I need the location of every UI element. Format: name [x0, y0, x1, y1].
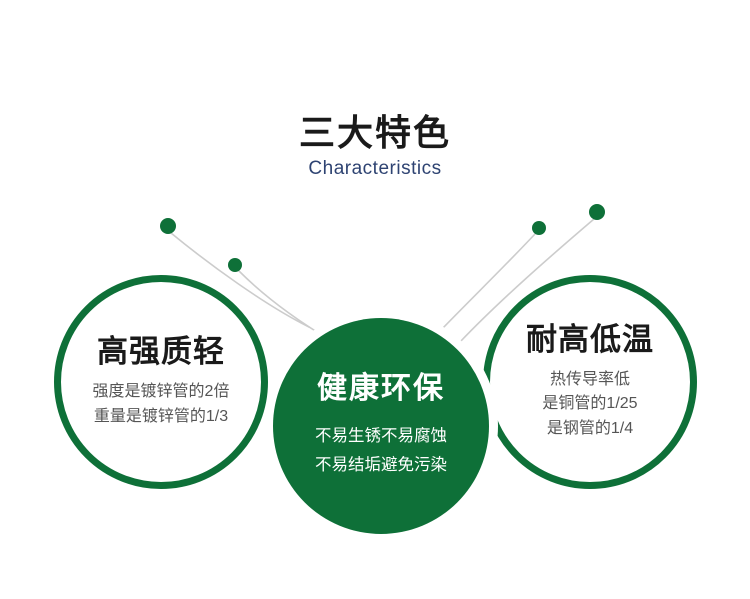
feature-circle-healthy-eco[interactable]: 健康环保 不易生锈不易腐蚀 不易结垢避免污染	[273, 318, 489, 534]
dot-left-outer	[160, 218, 176, 234]
feature-line: 不易结垢避免污染	[315, 451, 447, 480]
characteristics-infographic: 三大特色 Characteristics 高强质轻 强度是镀锌管的2倍 重量是镀…	[0, 0, 750, 599]
feature-line: 重量是镀锌管的1/3	[93, 405, 230, 430]
page-header: 三大特色 Characteristics	[0, 113, 750, 179]
feature-line: 热传导率低	[542, 368, 637, 393]
feature-line: 是钢管的1/4	[542, 417, 637, 442]
decorative-dots	[160, 204, 605, 272]
feature-circle-strength-light[interactable]: 高强质轻 强度是镀锌管的2倍 重量是镀锌管的1/3	[54, 275, 268, 489]
feature-line: 强度是镀锌管的2倍	[93, 380, 230, 405]
feature-line: 不易生锈不易腐蚀	[315, 422, 447, 451]
dot-right-outer	[589, 204, 605, 220]
dot-right-inner	[532, 221, 546, 235]
page-subtitle: Characteristics	[0, 159, 750, 180]
feature-title-healthy-eco: 健康环保	[317, 372, 445, 407]
feature-circle-temperature-resistant[interactable]: 耐高低温 热传导率低 是铜管的1/25 是钢管的1/4	[483, 275, 697, 489]
feature-lines-temperature-resistant: 热传导率低 是铜管的1/25 是钢管的1/4	[542, 368, 637, 442]
feature-title-temperature-resistant: 耐高低温	[526, 322, 654, 358]
feature-lines-strength-light: 强度是镀锌管的2倍 重量是镀锌管的1/3	[93, 380, 230, 430]
dot-left-inner	[228, 258, 242, 272]
feature-line: 是铜管的1/25	[542, 392, 637, 417]
page-title: 三大特色	[0, 113, 750, 153]
feature-title-strength-light: 高强质轻	[97, 334, 225, 370]
feature-lines-healthy-eco: 不易生锈不易腐蚀 不易结垢避免污染	[315, 422, 447, 480]
